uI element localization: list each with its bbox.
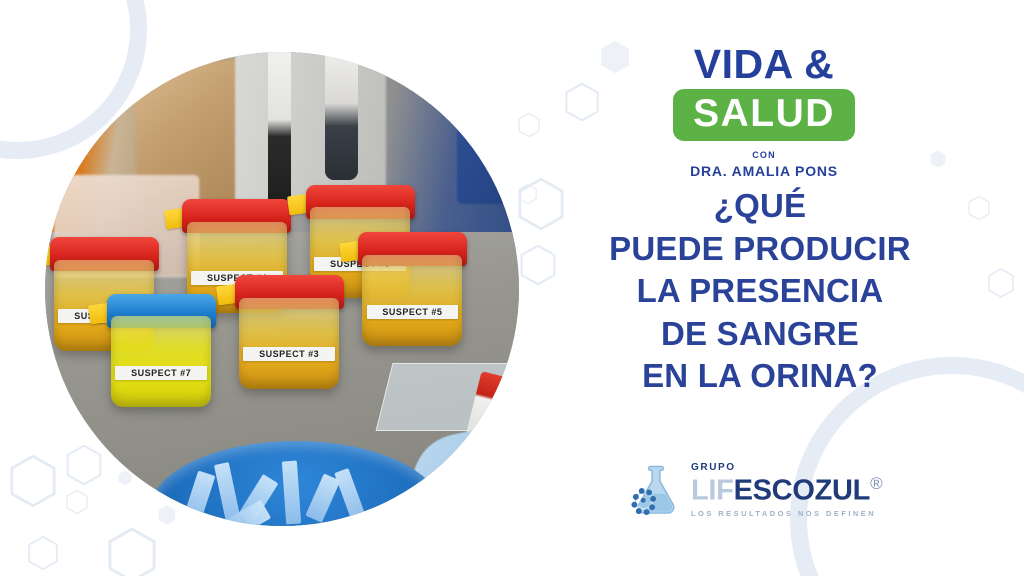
hexagon-icon	[518, 113, 540, 137]
brand-host-name: DRA. AMALIA PONS	[594, 163, 934, 179]
headline-line-1: ¿QUÉ	[560, 185, 960, 228]
lab-flask-icon	[628, 462, 682, 518]
headline-line-3: LA PRESENCIA	[560, 270, 960, 313]
photo-cup-body	[111, 316, 211, 407]
photo-cup-label: SUSPECT #3	[243, 347, 335, 361]
hexagon-icon	[519, 184, 537, 204]
headline-line-2: PUEDE PRODUCIR	[560, 228, 960, 271]
company-logo-name-bold: ESCOZUL	[734, 475, 870, 507]
brand-lockup: VIDA & SALUD CON DRA. AMALIA PONS	[594, 44, 934, 179]
photo-cup-label: SUSPECT #7	[115, 366, 207, 380]
hexagon-icon	[520, 245, 556, 285]
hexagon-icon	[968, 196, 990, 220]
hexagon-icon	[988, 268, 1014, 298]
photo-blue-container	[457, 114, 519, 204]
photo-pipette-tip	[282, 460, 301, 523]
brand-salud-badge-wrap: SALUD	[673, 89, 855, 141]
company-logo-grupo: GRUPO	[691, 463, 883, 473]
company-logo-text: GRUPO LIFESCOZUL® LOS RESULTADOS NOS DEF…	[691, 463, 883, 517]
photo-cup-body	[239, 298, 339, 389]
hexagon-icon	[518, 178, 564, 230]
photo-sample-cup: SUSPECT #5	[358, 232, 467, 346]
photo-pipette	[268, 52, 292, 213]
photo-cup-label: SUSPECT #5	[367, 305, 459, 319]
company-logo-name-light: LIF	[691, 475, 734, 507]
photo-sample-cup: SUSPECT #3	[235, 275, 344, 389]
brand-title-salud: SALUD	[673, 89, 855, 141]
photo-cup-body	[362, 255, 462, 346]
feature-photo: SUSPECT #1 SUSPECT #4 SUSPECT #6 SUSPECT…	[45, 52, 519, 526]
hexagon-icon	[108, 528, 156, 576]
headline-line-5: EN LA ORINA?	[560, 355, 960, 398]
registered-trademark-icon: ®	[870, 474, 883, 493]
photo-pipette-secondary	[325, 52, 358, 180]
photo-pipette-tip	[305, 473, 340, 522]
headline: ¿QUÉ PUEDE PRODUCIR LA PRESENCIA DE SANG…	[560, 185, 960, 398]
brand-title-vida: VIDA &	[594, 44, 934, 85]
photo-sample-cup: SUSPECT #7	[107, 294, 216, 408]
photo-pipette-stand	[235, 52, 387, 204]
photo-pipette-tip	[334, 468, 366, 524]
brand-con-label: CON	[594, 150, 934, 160]
company-logo: GRUPO LIFESCOZUL® LOS RESULTADOS NOS DEF…	[628, 462, 883, 518]
slide-canvas: SUSPECT #1 SUSPECT #4 SUSPECT #6 SUSPECT…	[0, 0, 1024, 576]
headline-line-4: DE SANGRE	[560, 313, 960, 356]
company-logo-tagline: LOS RESULTADOS NOS DEFINEN	[691, 510, 883, 518]
photo-pipette-tip	[183, 470, 216, 524]
photo-scene: SUSPECT #1 SUSPECT #4 SUSPECT #6 SUSPECT…	[45, 52, 519, 526]
hexagon-icon	[28, 536, 58, 570]
company-logo-name: LIFESCOZUL®	[691, 475, 883, 506]
